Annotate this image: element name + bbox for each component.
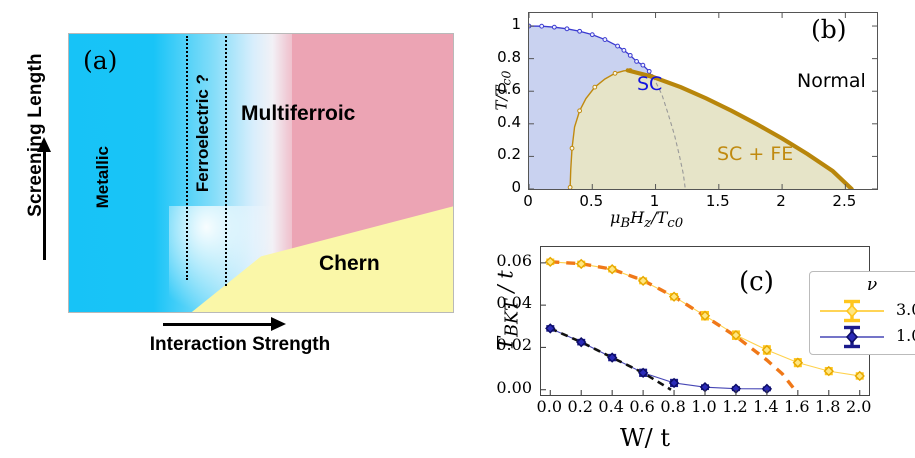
panel-c-x-tick-label: 2.0: [839, 397, 879, 416]
panel-a-label-chern: Chern: [319, 252, 380, 276]
panel-c-y-tick-label: 0.06: [480, 251, 532, 270]
panel-c-legend-row-2[interactable]: 1.0: [810, 324, 915, 350]
panel-b-x-tick-label: 1: [635, 192, 675, 210]
panel-a-x-axis-label: Interaction Strength: [40, 334, 440, 356]
panel-c-plot-frame: (c) ν 3.0: [540, 246, 870, 396]
panel-b-y-tick-label: 0.2: [481, 145, 521, 163]
panel-c-legend-marker-1: [810, 298, 894, 324]
panel-a-plot-area: (a) Metallic Ferroelectric ? Multiferroi…: [68, 33, 454, 313]
panel-a-dotted-divider-left: [186, 36, 188, 280]
panel-c-legend-label-2: 1.0: [896, 326, 915, 345]
panel-a: Screening Length (a) Metallic Ferroelect…: [0, 0, 470, 458]
panel-b-x-tick-label: 2: [761, 192, 801, 210]
panel-b-x-tick-label: 2.5: [824, 192, 864, 210]
panel-b-label-normal: Normal: [797, 70, 866, 92]
panel-b: (b) SC SC + FE Normal T/Tc0 μBHz/Tc0 00.…: [470, 0, 915, 235]
panel-b-tag: (b): [811, 15, 847, 44]
panel-c-tag: (c): [739, 267, 774, 297]
panel-b-y-tick-label: 1: [481, 15, 521, 33]
panel-b-x-tick-label: 0.5: [571, 192, 611, 210]
panel-c-legend-marker-2: [810, 324, 894, 350]
panel-a-y-axis-arrow-icon: [43, 150, 46, 260]
panel-b-x-tick-label: 0: [508, 192, 548, 210]
panel-b-x-tick-label: 1.5: [698, 192, 738, 210]
panel-c-legend-label-1: 3.0: [896, 300, 915, 319]
panel-c-legend-row-1[interactable]: 3.0: [810, 298, 915, 324]
panel-b-plot-frame: (b) SC SC + FE Normal: [528, 12, 878, 190]
panel-a-y-axis-label: Screening Length: [25, 25, 55, 245]
panel-c-y-tick-label: 0.04: [480, 293, 532, 312]
panel-a-dotted-divider-right: [225, 36, 227, 286]
panel-a-region-blend: [253, 187, 453, 312]
panel-c-legend: ν 3.0 1.0: [809, 271, 915, 355]
panel-b-label-sc: SC: [637, 73, 662, 95]
panel-a-x-axis-arrow-icon: [163, 323, 273, 326]
panel-a-label-multiferroic: Multiferroic: [241, 102, 355, 126]
panel-c-legend-title: ν: [810, 275, 915, 295]
panel-a-label-ferroelectric: Ferroelectric ?: [193, 74, 213, 192]
panel-b-y-tick-label: 0.4: [481, 113, 521, 131]
panel-c: (c) ν 3.0: [470, 228, 915, 458]
panel-a-tag: (a): [83, 46, 117, 75]
panel-b-y-tick-label: 0.8: [481, 48, 521, 66]
panel-c-x-axis-label: W/ t: [620, 424, 670, 452]
panel-c-y-tick-label: 0.00: [480, 378, 532, 397]
panel-b-label-sc-fe: SC + FE: [717, 143, 793, 165]
panel-b-y-tick-label: 0.6: [481, 80, 521, 98]
panel-a-label-metallic: Metallic: [93, 146, 113, 208]
panel-c-y-tick-label: 0.02: [480, 335, 532, 354]
